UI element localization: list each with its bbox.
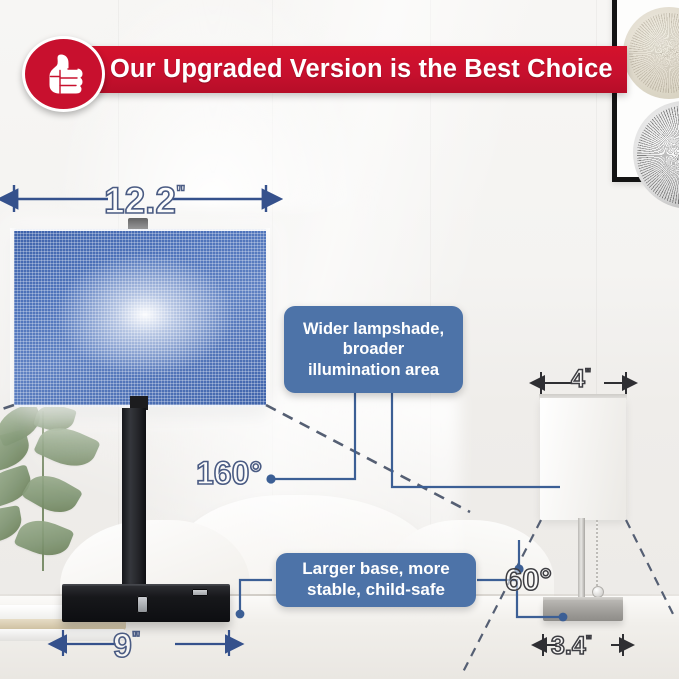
pull-chain[interactable]	[596, 520, 598, 588]
standard-lamp-shade	[540, 398, 626, 520]
potted-plant	[0, 405, 110, 580]
promo-banner: Our Upgraded Version is the Best Choice	[52, 46, 627, 93]
callout-line-1: Wider lampshade,	[303, 319, 444, 339]
dimension-label-3-4: 3.4"	[551, 632, 592, 661]
callout-line-3: illumination area	[303, 360, 444, 380]
usb-port-icon[interactable]	[137, 596, 148, 613]
dimension-label-12-2: 12.2"	[104, 180, 186, 222]
upgraded-lampshade	[14, 229, 266, 407]
dimension-label-4: 4"	[571, 365, 591, 394]
standard-lamp-pole	[578, 518, 585, 604]
callout-line-1: Larger base, more	[302, 559, 449, 580]
standard-lamp-base	[543, 600, 623, 621]
angle-label-160: 160°	[196, 455, 262, 492]
promo-banner-text: Our Upgraded Version is the Best Choice	[52, 55, 613, 84]
thumbs-up-icon	[22, 36, 105, 112]
angle-label-60: 60°	[505, 562, 552, 598]
dimension-label-9: 9"	[113, 627, 140, 666]
callout-line-2: stable, child-safe	[302, 580, 449, 601]
callout-wider-lampshade: Wider lampshade, broader illumination ar…	[284, 306, 463, 393]
upgraded-lamp-pole	[122, 408, 146, 594]
callout-larger-base: Larger base, more stable, child-safe	[276, 553, 476, 607]
product-infographic: 12.2" 9" 160° 60° 4" 3.4" Wider lampshad…	[0, 0, 679, 679]
callout-line-2: broader	[303, 339, 444, 359]
power-switch-icon[interactable]	[192, 589, 208, 596]
